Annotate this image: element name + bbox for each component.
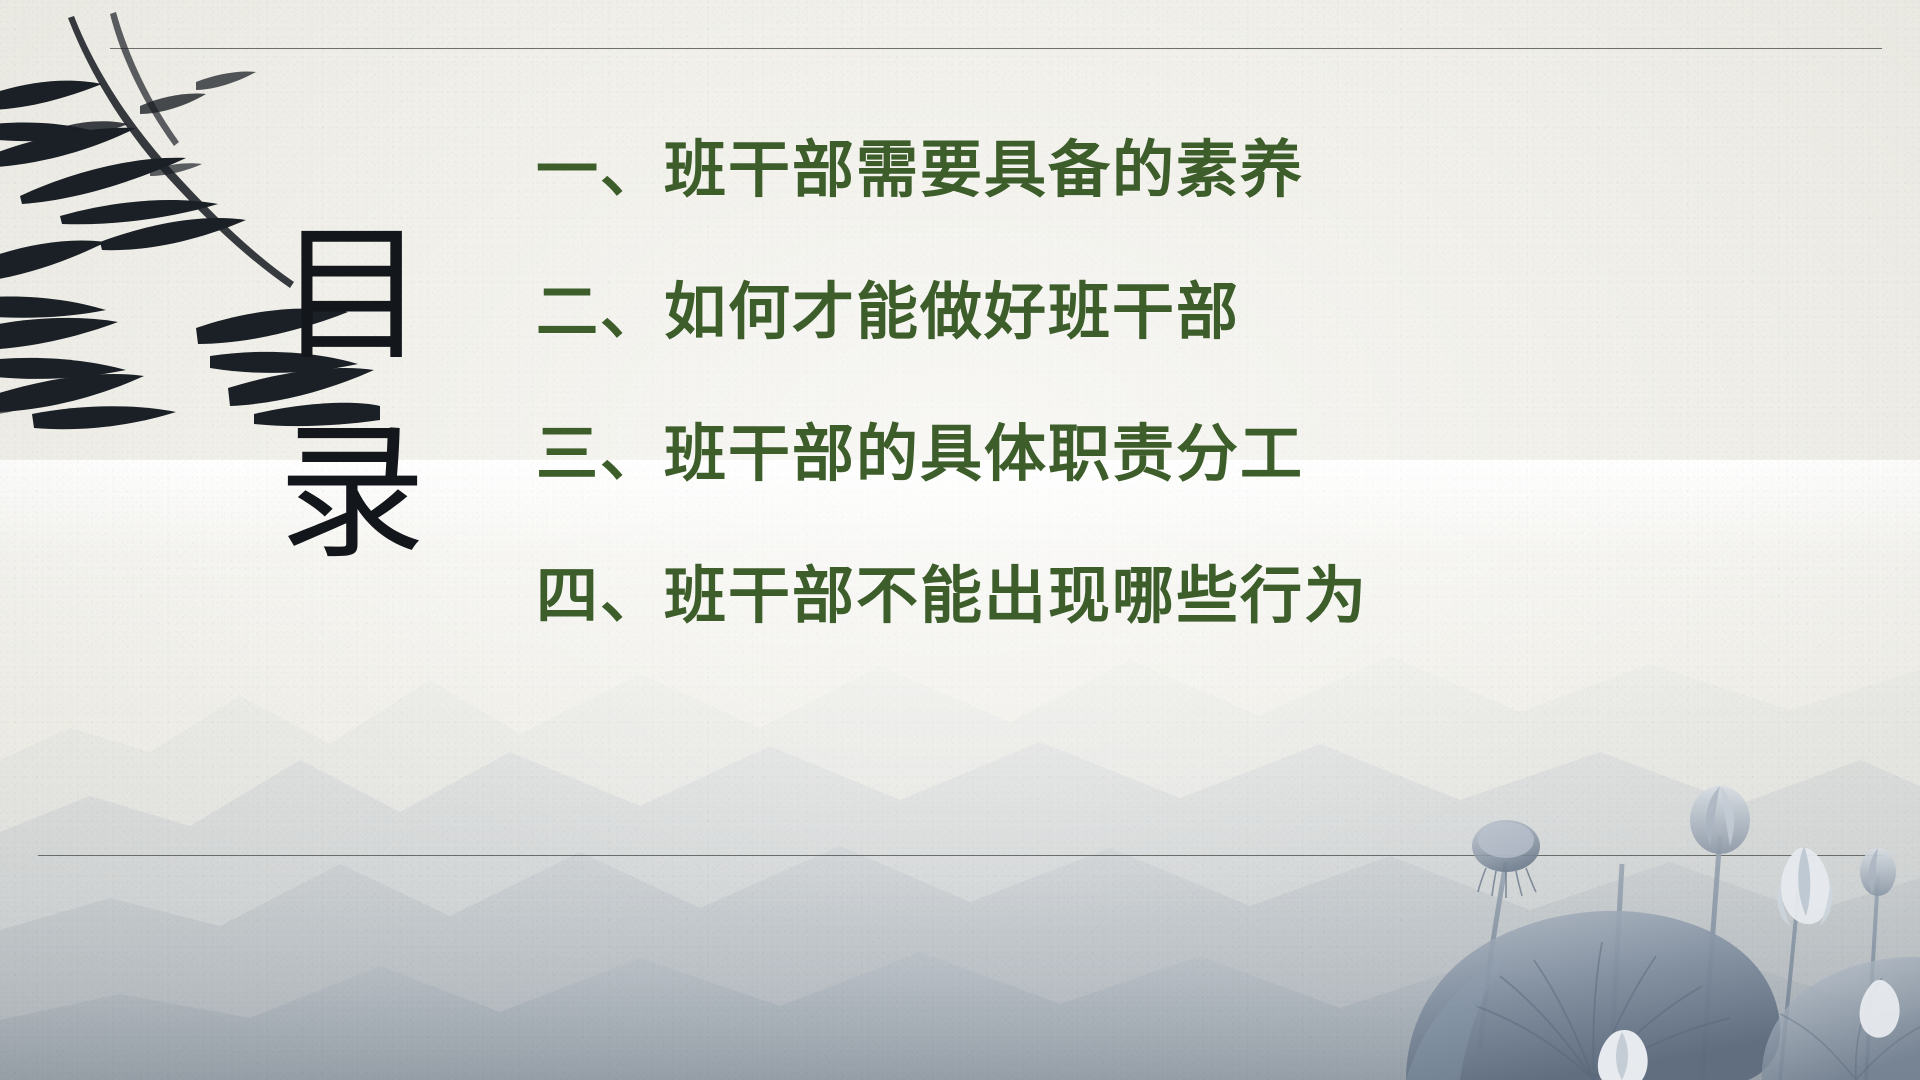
toc-item-3[interactable]: 三、班干部的具体职责分工	[536, 412, 1856, 496]
table-of-contents: 一、班干部需要具备的素养 二、如何才能做好班干部 三、班干部的具体职责分工 四、…	[536, 128, 1856, 638]
page-title: 目 录	[272, 196, 432, 593]
toc-item-2[interactable]: 二、如何才能做好班干部	[536, 270, 1856, 354]
page-title-char-1: 目	[272, 196, 432, 394]
page-title-char-2: 录	[272, 394, 432, 592]
toc-item-1[interactable]: 一、班干部需要具备的素养	[536, 128, 1856, 212]
presentation-slide: 目 录 一、班干部需要具备的素养 二、如何才能做好班干部 三、班干部的具体职责分…	[0, 0, 1920, 1080]
toc-item-4[interactable]: 四、班干部不能出现哪些行为	[536, 554, 1856, 638]
lotus-icon	[1310, 650, 1920, 1080]
